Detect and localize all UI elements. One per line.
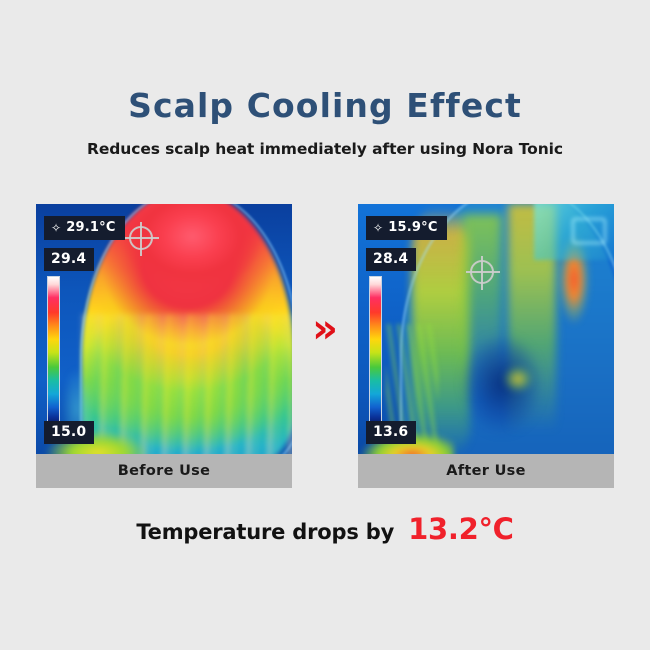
panel-caption-before: Before Use [36, 454, 292, 488]
spot-marker-icon-after: ✧ [373, 222, 383, 234]
thermal-image-before: ✧ 29.1°C 29.4 15.0 [36, 204, 292, 454]
spot-marker-icon-before: ✧ [51, 222, 61, 234]
page-subtitle: Reduces scalp heat immediately after usi… [0, 140, 650, 158]
scale-min-label-after: 13.6 [366, 421, 416, 444]
color-scale-bar-after [369, 276, 382, 426]
scale-max-label-after: 28.4 [366, 248, 416, 271]
spot-crosshair-icon-after [470, 260, 494, 284]
scale-max-label-before: 29.4 [44, 248, 94, 271]
panel-caption-after: After Use [358, 454, 614, 488]
panel-before: ✧ 29.1°C 29.4 15.0 Before Use [36, 204, 292, 488]
spot-crosshair-icon-before [129, 226, 153, 250]
comparison-panels: ✧ 29.1°C 29.4 15.0 Before Use » [0, 204, 650, 488]
spot-temperature-badge-after: ✧ 15.9°C [366, 216, 447, 240]
scale-min-label-before: 15.0 [44, 421, 94, 444]
spot-temperature-value-after: 15.9°C [388, 220, 437, 235]
thermal-image-after: ✧ 15.9°C 28.4 13.6 [358, 204, 614, 454]
color-scale-bar-before [47, 276, 60, 426]
header: Scalp Cooling Effect Reduces scalp heat … [0, 88, 650, 158]
result-label: Temperature drops by [136, 520, 394, 544]
chevron-right-double-icon: » [292, 204, 358, 454]
result-value: 13.2°C [408, 512, 514, 546]
page-title: Scalp Cooling Effect [0, 88, 650, 124]
spot-temperature-badge-before: ✧ 29.1°C [44, 216, 125, 240]
result-summary: Temperature drops by 13.2°C [0, 512, 650, 546]
thermal-corner-object-after [534, 204, 614, 260]
panel-after: ✧ 15.9°C 28.4 13.6 After Use [358, 204, 614, 488]
spot-temperature-value-before: 29.1°C [66, 220, 115, 235]
